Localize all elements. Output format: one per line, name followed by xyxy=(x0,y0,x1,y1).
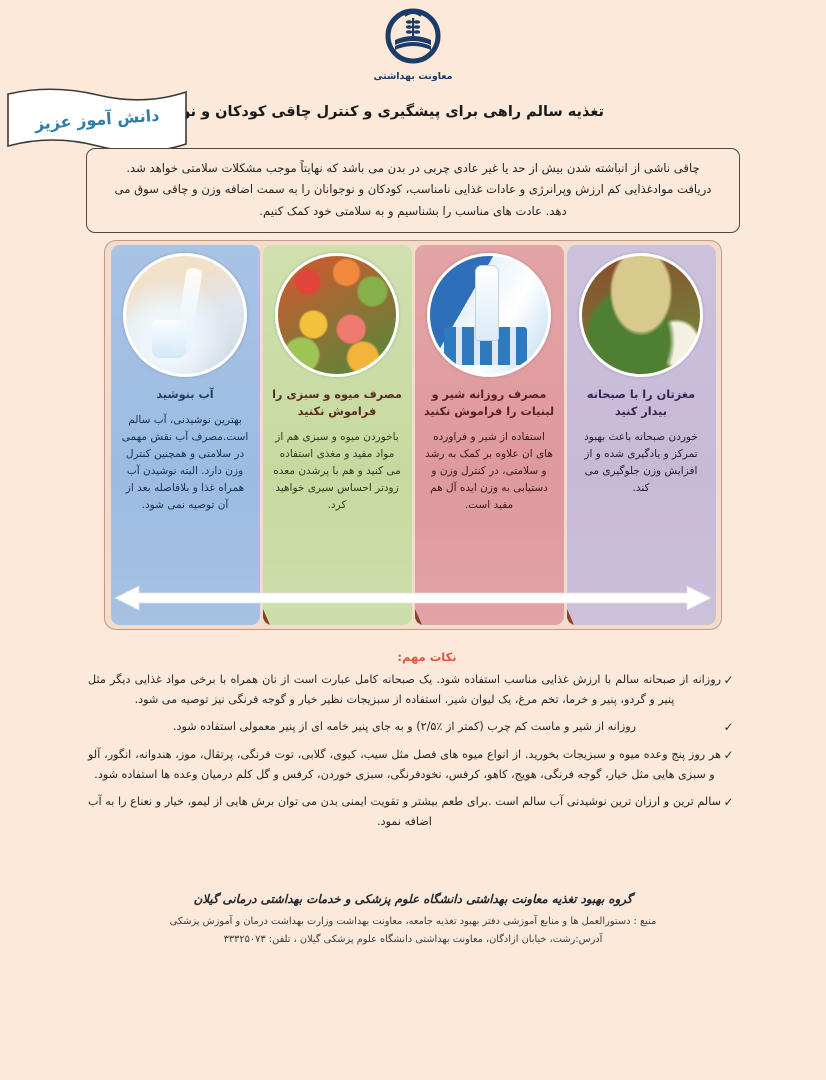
header-logo-block: معاونت بهداشتی xyxy=(0,6,826,82)
footer-block: گروه بهبود تغذیه معاونت بهداشتی دانشگاه … xyxy=(0,890,826,949)
intro-line-3: دهد. عادت های مناسب را بشناسیم و به سلام… xyxy=(103,201,723,222)
tip-text: هر روز پنج وعده میوه و سبزیجات بخورید. ا… xyxy=(88,745,721,785)
tip-text: روزانه از شیر و ماست کم چرب (کمتر از ٪۲/… xyxy=(88,717,721,737)
panel-milk-body: استفاده از شیر و فراورده های ان علاوه بر… xyxy=(415,429,564,514)
intro-line-2: دریافت موادغذایی کم ارزش وپرانرژی و عادا… xyxy=(103,179,723,200)
panel-water-body: بهترین نوشیدنی، آب سالم است.مصرف آب نقش … xyxy=(111,412,260,514)
check-mark-icon: ✓ xyxy=(721,717,736,738)
panel-divider-tick xyxy=(415,609,422,625)
tip-item: ✓ سالم ترین و ارزان ترین نوشیدنی آب سالم… xyxy=(88,792,736,832)
panel-fruits-body: باخوردن میوه و سبزی هم از مواد مفید و مغ… xyxy=(263,429,412,514)
footer-address: آدرس:رشت، خیابان ازادگان، معاونت بهداشتی… xyxy=(0,931,826,949)
fruits-and-vegetables-photo-icon xyxy=(275,253,399,377)
tip-item: ✓ روزانه از صبحانه سالم با ارزش غذایی من… xyxy=(88,670,736,710)
footer-organization: گروه بهبود تغذیه معاونت بهداشتی دانشگاه … xyxy=(0,890,826,909)
panel-breakfast-body: خوردن صبحانه باعث بهبود تمرکز و یادگیری … xyxy=(567,429,716,497)
panel-water-heading: آب بنوشید xyxy=(148,387,221,404)
footer-source: منبع : دستورالعمل ها و منابع آموزشی دفتر… xyxy=(0,913,826,931)
ministry-of-health-emblem-icon xyxy=(381,6,445,70)
panel-breakfast[interactable]: مغزتان را با صبحانه بیدار کنید خوردن صبح… xyxy=(567,245,716,625)
tips-list: ✓ روزانه از صبحانه سالم با ارزش غذایی من… xyxy=(88,670,736,839)
panel-water[interactable]: آب بنوشید بهترین نوشیدنی، آب سالم است.مص… xyxy=(111,245,260,625)
tips-section-title: نکات مهم: xyxy=(0,650,826,664)
panel-fruits-vegetables[interactable]: مصرف میوه و سبزی را فراموش نکنید باخوردن… xyxy=(263,245,412,625)
panel-divider-tick xyxy=(567,609,574,625)
tip-item: ✓ هر روز پنج وعده میوه و سبزیجات بخورید.… xyxy=(88,745,736,785)
breakfast-bread-herbs-cheese-photo-icon xyxy=(579,253,703,377)
check-mark-icon: ✓ xyxy=(721,670,736,691)
milk-and-dairy-products-photo-icon xyxy=(427,253,551,377)
panel-fruits-heading: مصرف میوه و سبزی را فراموش نکنید xyxy=(263,387,412,421)
check-mark-icon: ✓ xyxy=(721,745,736,766)
check-mark-icon: ✓ xyxy=(721,792,736,813)
tip-text: سالم ترین و ارزان ترین نوشیدنی آب سالم ا… xyxy=(88,792,721,832)
intro-callout-box: چاقی ناشی از انباشته شدن بیش از حد یا غی… xyxy=(86,148,740,233)
tip-text: روزانه از صبحانه سالم با ارزش غذایی مناس… xyxy=(88,670,721,710)
poster-root: معاونت بهداشتی تغذیه سالم راهی برای پیشگ… xyxy=(0,0,826,1080)
panel-milk-dairy[interactable]: مصرف روزانه شیر و لبنیات را فراموش نکنید… xyxy=(415,245,564,625)
page-title: تغذیه سالم راهی برای پیشگیری و کنترل چاق… xyxy=(134,104,604,120)
panel-milk-heading: مصرف روزانه شیر و لبنیات را فراموش نکنید xyxy=(415,387,564,421)
tip-item: ✓ روزانه از شیر و ماست کم چرب (کمتر از ٪… xyxy=(88,717,736,738)
panel-breakfast-heading: مغزتان را با صبحانه بیدار کنید xyxy=(567,387,716,421)
pouring-water-glass-photo-icon xyxy=(123,253,247,377)
intro-line-1: چاقی ناشی از انباشته شدن بیش از حد یا غی… xyxy=(103,158,723,179)
advice-panels-frame: مغزتان را با صبحانه بیدار کنید خوردن صبح… xyxy=(104,240,722,630)
student-ribbon-banner: دانش آموز عزیز xyxy=(2,86,192,156)
panel-divider-tick xyxy=(263,609,270,625)
logo-caption: معاونت بهداشتی xyxy=(373,71,452,82)
